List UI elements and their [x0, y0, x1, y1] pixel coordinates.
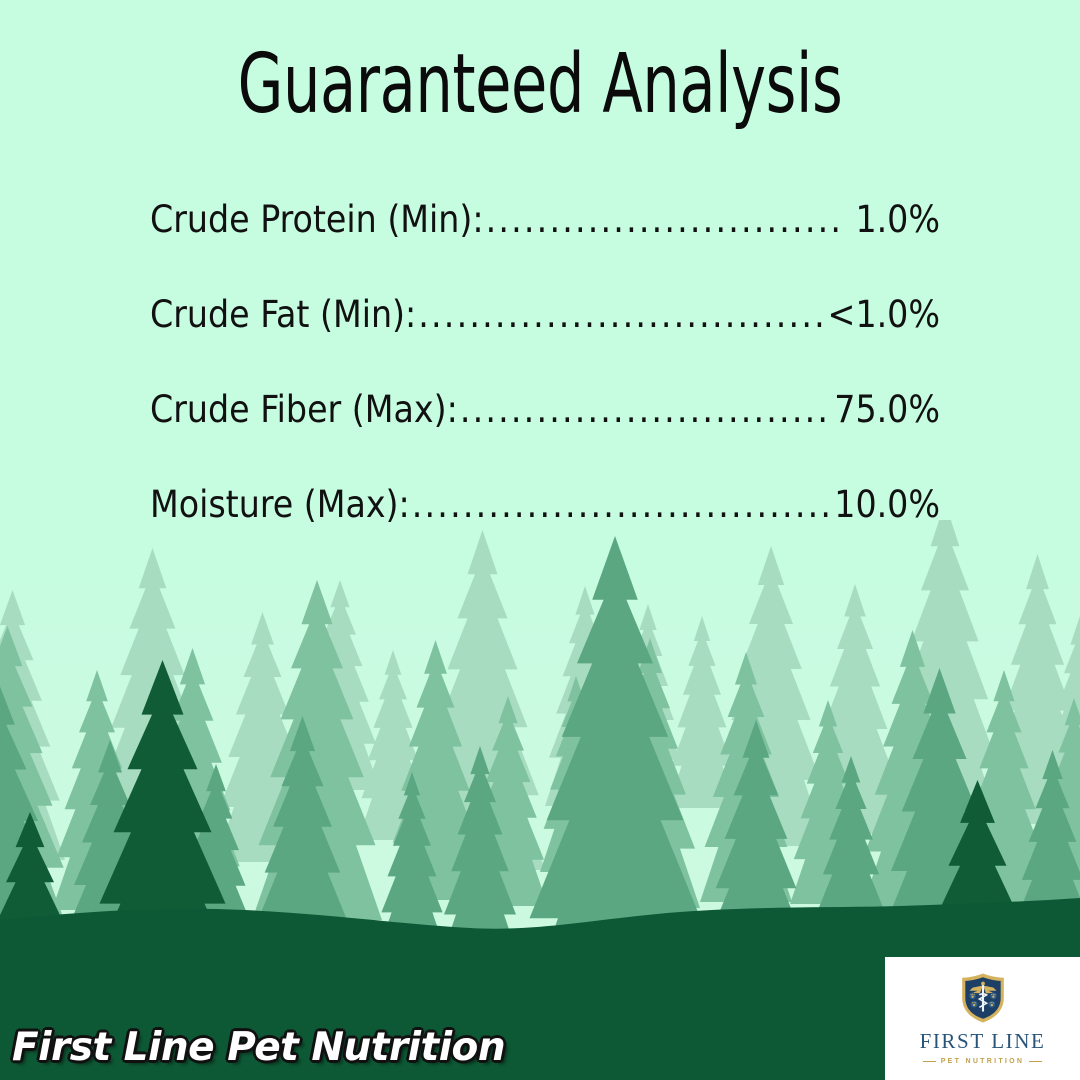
analysis-leader-dots: ................................	[460, 388, 828, 431]
analysis-label: Moisture (Max):	[150, 483, 410, 526]
brand-watermark: First Line Pet Nutrition	[12, 1025, 505, 1070]
analysis-row: Crude Protein (Min): ...................…	[150, 198, 940, 293]
shield-caduceus-icon	[957, 972, 1009, 1024]
analysis-value: <1.0%	[824, 293, 940, 336]
logo-tagline-wrap: PET NUTRITION	[923, 1058, 1043, 1065]
guaranteed-analysis-list: Crude Protein (Min): ...................…	[150, 198, 940, 578]
analysis-row: Crude Fat (Min): .......................…	[150, 293, 940, 388]
analysis-label: Crude Fiber (Max):	[150, 388, 458, 431]
analysis-value: 75.0%	[830, 388, 940, 431]
analysis-label: Crude Protein (Min):	[150, 198, 484, 241]
analysis-label: Crude Fat (Min):	[150, 293, 416, 336]
analysis-value: 10.0%	[830, 483, 940, 526]
logo-wordmark: FIRST LINE	[920, 1031, 1046, 1052]
analysis-leader-dots: ............................	[486, 198, 850, 241]
analysis-row: Moisture (Max): ........................…	[150, 483, 940, 578]
analysis-leader-dots: .....................................	[418, 293, 821, 336]
page-title: Guaranteed Analysis	[108, 44, 972, 126]
analysis-value: 1.0%	[851, 198, 940, 241]
tagline-rule-right	[1029, 1061, 1042, 1063]
tagline-rule-left	[923, 1061, 936, 1063]
brand-logo-card: FIRST LINE PET NUTRITION	[885, 957, 1080, 1080]
logo-tagline: PET NUTRITION	[941, 1058, 1025, 1065]
guaranteed-analysis-graphic: Guaranteed Analysis Crude Protein (Min):…	[0, 0, 1080, 1080]
analysis-row: Crude Fiber (Max): .....................…	[150, 388, 940, 483]
analysis-leader-dots: ....................................	[412, 483, 829, 526]
